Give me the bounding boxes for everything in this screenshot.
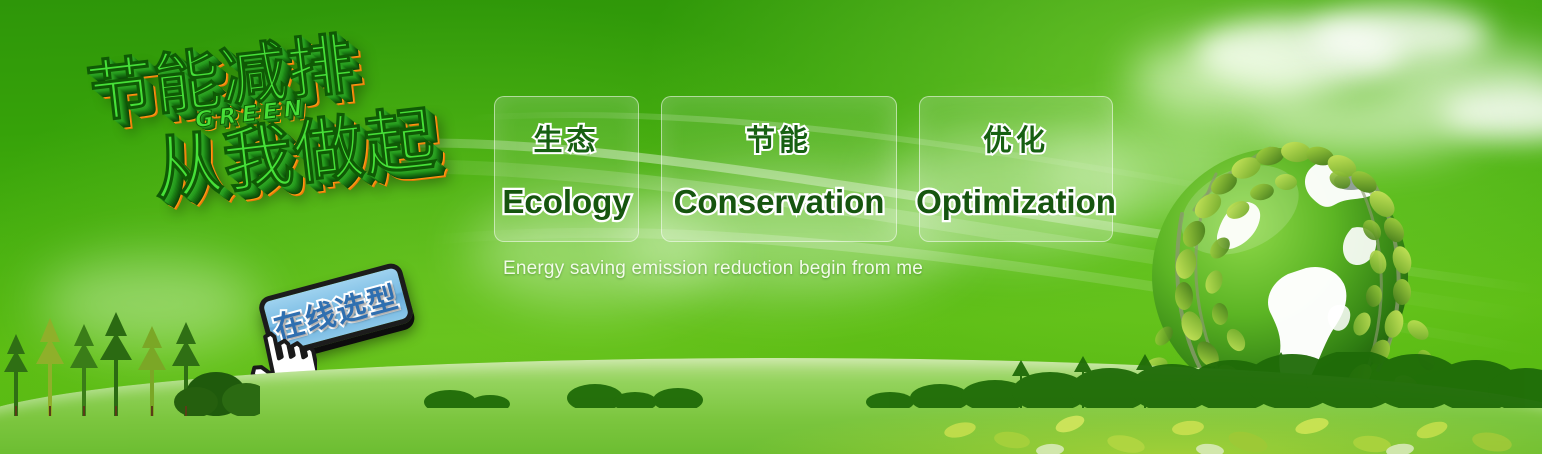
feature-card-cn-label: 生态 — [533, 117, 599, 159]
feature-card-cn-label: 优化 — [983, 117, 1049, 159]
headline-3d-text: 节能减排 GREEN 从我做起 — [84, 13, 528, 299]
feature-card-conservation[interactable]: 节能 Conservation — [661, 96, 897, 242]
conifer-treeline-icon — [0, 310, 260, 416]
green-energy-banner: 节能减排 GREEN 从我做起 在线选型 生态 Ecology 节能 Conse… — [0, 0, 1542, 454]
feature-card-ecology[interactable]: 生态 Ecology — [494, 96, 639, 242]
leaf-litter-icon — [900, 384, 1542, 454]
feature-card-cn-label: 节能 — [746, 117, 812, 159]
feature-card-list: 生态 Ecology 节能 Conservation 优化 Optimizati… — [494, 96, 1113, 242]
feature-card-optimization[interactable]: 优化 Optimization — [919, 96, 1113, 242]
feature-card-en-label: Optimization — [916, 183, 1116, 221]
feature-card-en-label: Ecology — [502, 183, 630, 221]
tagline-text: Energy saving emission reduction begin f… — [503, 258, 923, 280]
feature-card-en-label: Conservation — [674, 183, 885, 221]
